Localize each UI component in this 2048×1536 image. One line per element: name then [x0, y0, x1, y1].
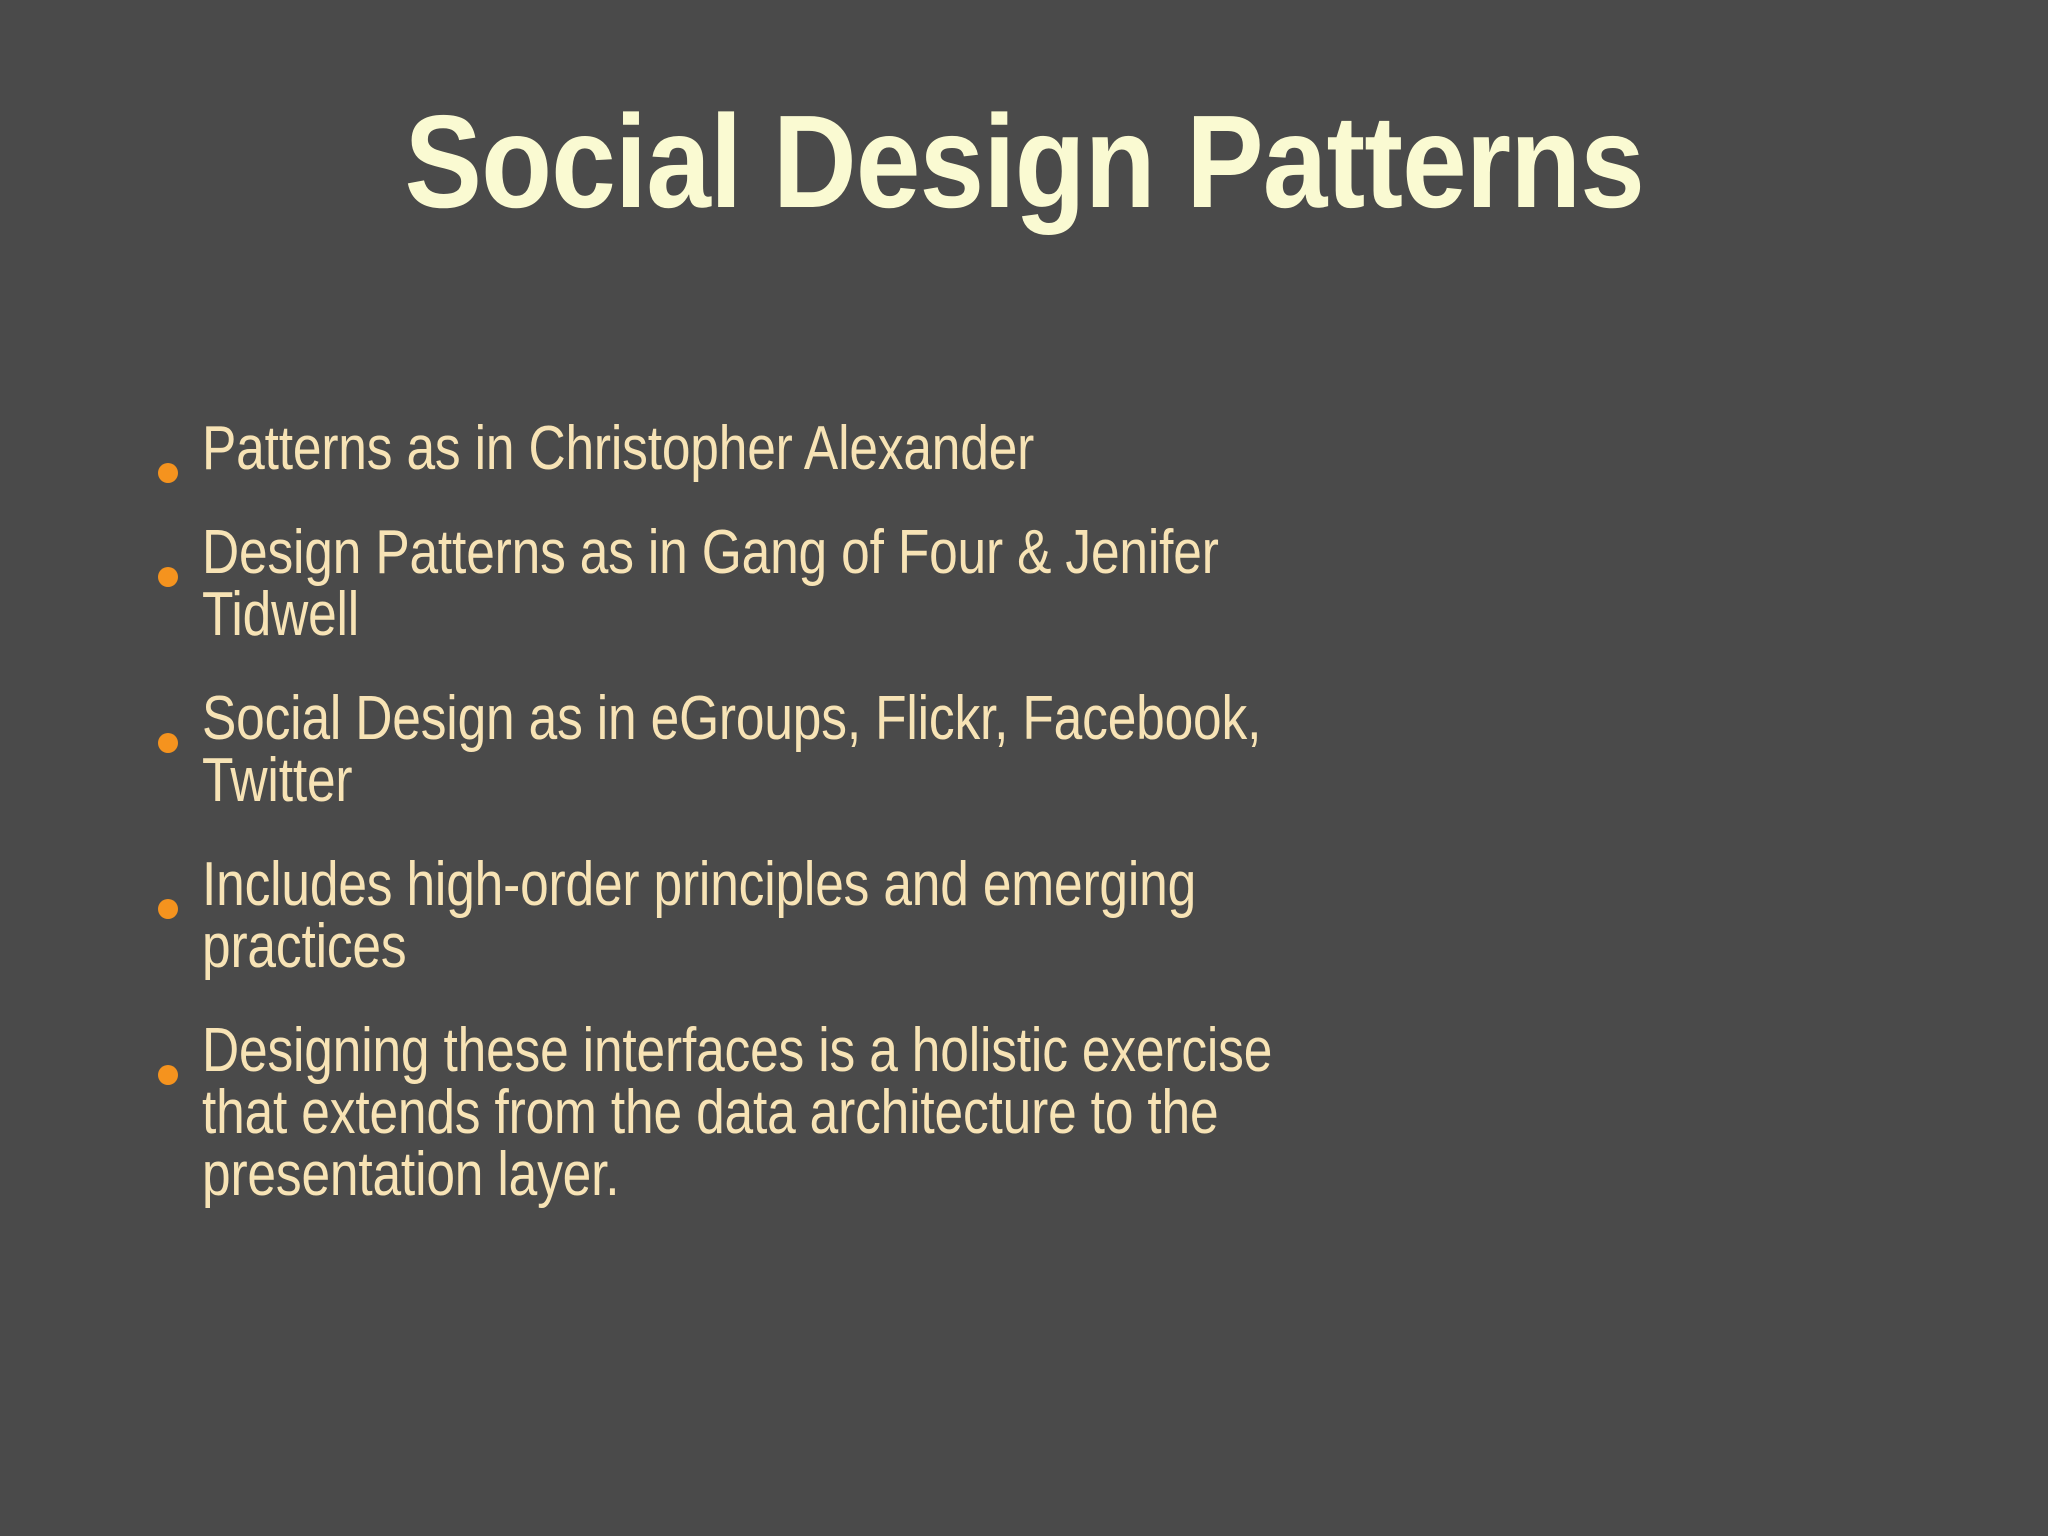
- list-item-line: Designing these interfaces is a holistic…: [202, 1020, 1910, 1082]
- list-item: Design Patterns as in Gang of Four & Jen…: [150, 522, 1910, 646]
- bullet-dot-icon: [158, 567, 178, 587]
- bullet-dot-icon: [158, 733, 178, 753]
- list-item-line: Twitter: [202, 750, 1910, 812]
- bullet-dot-icon: [158, 1065, 178, 1085]
- list-item-line: Patterns as in Christopher Alexander: [202, 418, 1910, 480]
- bullet-dot-icon: [158, 899, 178, 919]
- page-title: Social Design Patterns: [404, 96, 1643, 228]
- list-item-line: that extends from the data architecture …: [202, 1082, 1910, 1144]
- list-item-line: Includes high-order principles and emerg…: [202, 854, 1910, 916]
- slide-title-block: Social Design Patterns: [0, 96, 2048, 228]
- list-item: Includes high-order principles and emerg…: [150, 854, 1910, 978]
- list-item-text: Designing these interfaces is a holistic…: [202, 1020, 1910, 1206]
- list-item-text: Social Design as in eGroups, Flickr, Fac…: [202, 688, 1910, 812]
- list-item-line: Tidwell: [202, 584, 1910, 646]
- list-item-line: Design Patterns as in Gang of Four & Jen…: [202, 522, 1910, 584]
- bullet-dot-icon: [158, 463, 178, 483]
- list-item: Patterns as in Christopher Alexander: [150, 418, 1910, 480]
- list-item-text: Design Patterns as in Gang of Four & Jen…: [202, 522, 1910, 646]
- list-item: Social Design as in eGroups, Flickr, Fac…: [150, 688, 1910, 812]
- list-item-text: Includes high-order principles and emerg…: [202, 854, 1910, 978]
- list-item-line: Social Design as in eGroups, Flickr, Fac…: [202, 688, 1910, 750]
- list-item-text: Patterns as in Christopher Alexander: [202, 418, 1910, 480]
- list-item-line: presentation layer.: [202, 1144, 1910, 1206]
- list-item: Designing these interfaces is a holistic…: [150, 1020, 1910, 1206]
- slide-body-bullet-list: Patterns as in Christopher Alexander Des…: [150, 418, 1910, 1206]
- presentation-slide: Social Design Patterns Patterns as in Ch…: [0, 0, 2048, 1536]
- list-item-line: practices: [202, 916, 1910, 978]
